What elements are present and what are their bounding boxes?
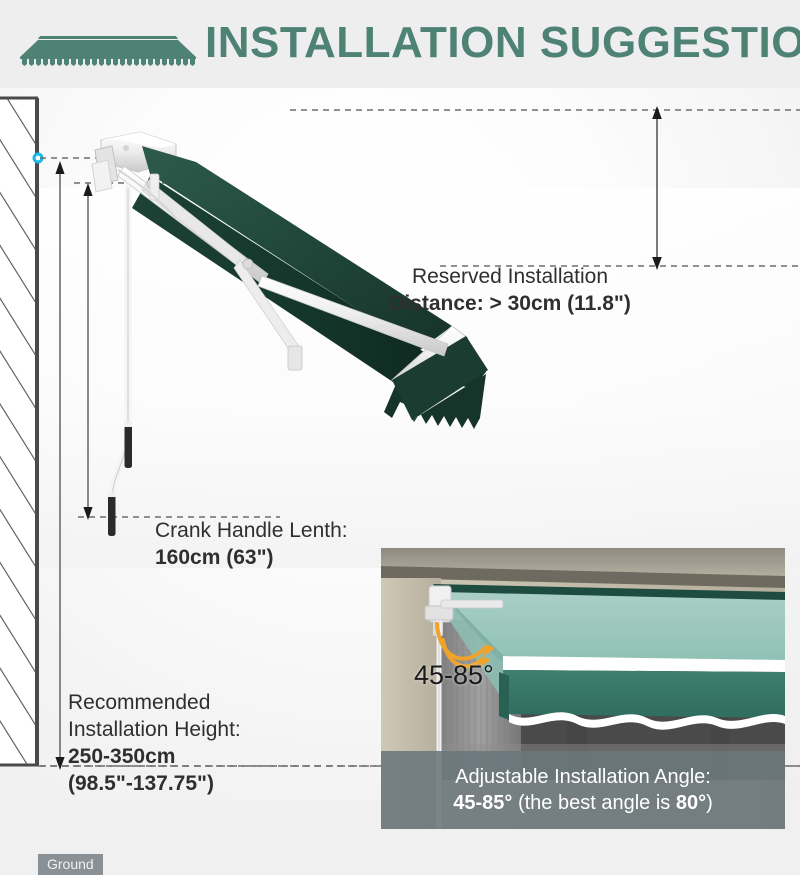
awning-fabric-top (142, 146, 452, 350)
photo-caption-best: 80° (676, 792, 706, 814)
reserved-distance-line2: Distance: > 30cm (11.8") (365, 291, 655, 318)
installation-height-line2: Installation Height: (68, 717, 368, 744)
installation-height-line4: (98.5"-137.75") (68, 771, 368, 798)
photo-caption-range: 45-85° (453, 792, 512, 814)
installation-height-dimension (55, 161, 64, 770)
installation-height-line1: Recommended (68, 690, 368, 717)
reserved-distance-line1: Reserved Installation (365, 264, 655, 291)
reserved-distance-dimension (652, 106, 662, 270)
photo-caption-line1: Adjustable Installation Angle: (455, 764, 711, 790)
crank-length-dimension (83, 183, 92, 520)
installation-suggestion-infographic: INSTALLATION SUGGESTION (0, 0, 800, 800)
installation-angle-photo: 45-85° Adjustable Installation Angle: 45… (381, 548, 785, 829)
crank-grip-lower (108, 494, 116, 536)
installation-height-line3: 250-350cm (68, 744, 368, 771)
installation-height-note: Recommended Installation Height: 250-350… (68, 690, 368, 798)
reserved-distance-note: Reserved Installation Distance: > 30cm (… (365, 264, 655, 318)
photo-caption-rest: (the best angle is (512, 792, 675, 814)
crank-handle (108, 188, 132, 536)
diagram-canvas: Reserved Installation Distance: > 30cm (… (0, 88, 800, 800)
header-bar: INSTALLATION SUGGESTION (0, 0, 800, 88)
crank-grip-upper (125, 424, 133, 468)
photo-caption-line2: 45-85° (the best angle is 80°) (453, 790, 713, 816)
photo-caption: Adjustable Installation Angle: 45-85° (t… (381, 751, 785, 829)
angle-overlay-label: 45-85° (414, 660, 494, 691)
awning-icon (18, 28, 198, 68)
crank-length-line2: 160cm (63") (155, 545, 415, 572)
wall (0, 98, 38, 766)
photo-caption-end: ) (706, 792, 713, 814)
crank-length-note: Crank Handle Lenth: 160cm (63") (155, 518, 415, 572)
crank-length-line1: Crank Handle Lenth: (155, 518, 415, 545)
ground-label: Ground (38, 854, 103, 875)
page-title: INSTALLATION SUGGESTION (205, 18, 800, 68)
